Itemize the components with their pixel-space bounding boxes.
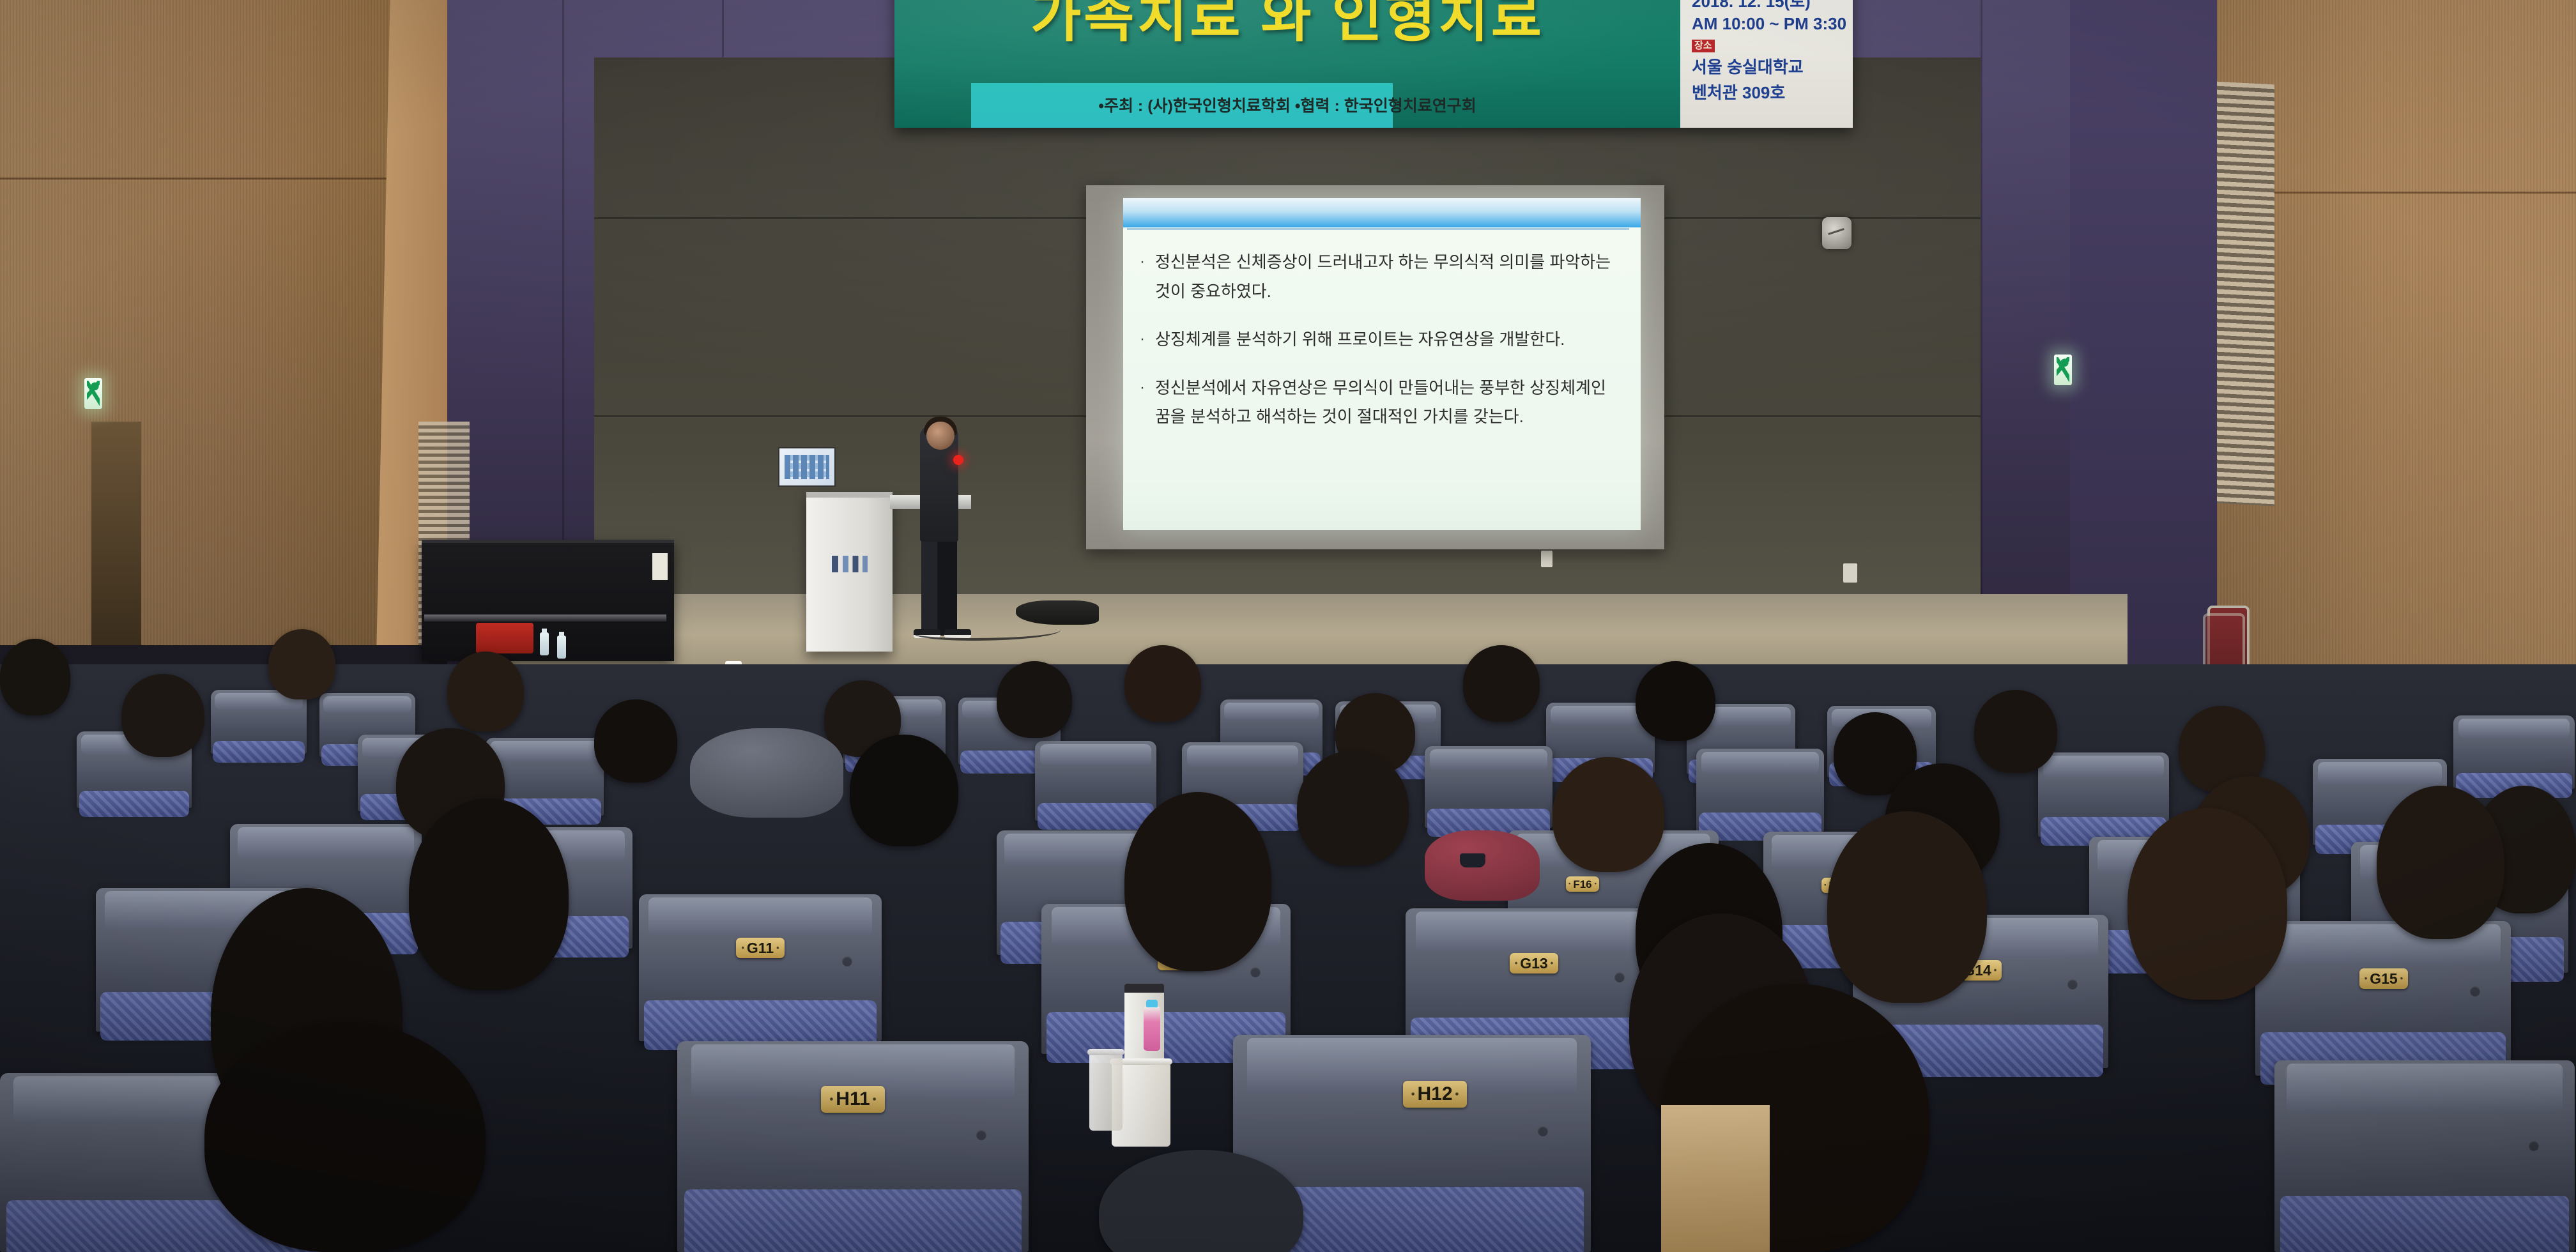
stage-poster: [778, 447, 836, 487]
seat[interactable]: [1035, 741, 1156, 821]
attendee-head: [997, 661, 1072, 738]
bullet-marker-icon: ·: [1140, 325, 1145, 355]
banner-main-panel: 2018 제8회 한국인형치료 학회 학술대회 가족치료 와 인형치료 •주최 …: [894, 0, 1680, 128]
slide-body: · 정신분석은 신체증상이 드러내고자 하는 무의식적 의미를 파악하는 것이 …: [1123, 198, 1641, 432]
purple-wall-right-panel: [2070, 0, 2217, 677]
seat[interactable]: [1696, 749, 1824, 832]
banner-place-line2: 벤처관 309호: [1692, 80, 1848, 103]
door-recess-left: [91, 422, 141, 645]
seat[interactable]: [1425, 746, 1552, 828]
seat[interactable]: [211, 690, 307, 754]
slide-bullet-text: 정신분석에서 자유연상은 무의식이 만들어내는 풍부한 상징체계인 꿈을 분석하…: [1155, 374, 1619, 432]
banner-place-tag: 장소: [1692, 40, 1715, 52]
banner-title: 가족치료 와 인형치료: [1031, 0, 1544, 49]
slide-bullet: · 정신분석은 신체증상이 드러내고자 하는 무의식적 의미를 파악하는 것이 …: [1140, 248, 1619, 306]
attendee-head: [1636, 661, 1715, 741]
seat[interactable]: [639, 894, 882, 1041]
attendee-head: [2377, 786, 2504, 939]
exit-sign-left-icon: [84, 378, 102, 409]
water-bottle: [557, 636, 566, 659]
coffee-cup: [1089, 1054, 1123, 1131]
slide-bullet: · 정신분석에서 자유연상은 무의식이 만들어내는 풍부한 상징체계인 꿈을 분…: [1140, 374, 1619, 432]
seat[interactable]: [2255, 921, 2511, 1076]
maroon-coat: [1425, 830, 1540, 901]
wall-outlet-secondary-icon: [1541, 551, 1552, 567]
attendee-head: [409, 798, 569, 990]
attendee-head: [1827, 811, 1987, 1003]
water-bottle: [540, 632, 549, 655]
banner-organizers: •주최 : (사)한국인형치료학회 •협력 : 한국인형치료연구회: [894, 93, 1680, 116]
attendee-head: [204, 1022, 486, 1252]
attendee-head: [1297, 751, 1409, 866]
seat[interactable]: [677, 1041, 1029, 1252]
microphone-indicator-icon: [953, 455, 963, 465]
attendee-head: [594, 699, 677, 782]
attendee-head: [1463, 645, 1540, 722]
banner-info-panel: 일시 2018. 12. 15(토) AM 10:00 ~ PM 3:30 장소…: [1680, 0, 1853, 128]
attendee-head: [1124, 792, 1271, 971]
seat[interactable]: [2274, 1060, 2575, 1252]
paper-shopping-bag: [1661, 1105, 1770, 1252]
red-bag: [476, 623, 533, 653]
seat-plate-g15: G15: [2359, 968, 2408, 989]
banner-time: AM 10:00 ~ PM 3:30: [1692, 14, 1848, 34]
bullet-marker-icon: ·: [1140, 374, 1145, 432]
banner-date: 2018. 12. 15(토): [1692, 0, 1848, 12]
seat[interactable]: [2453, 715, 2575, 789]
slide-bullet-text: 상징체계를 분석하기 위해 프로이트는 자유연상을 개발한다.: [1155, 325, 1565, 355]
piano-sheet-note: [652, 553, 668, 580]
gray-coat: [690, 728, 843, 818]
lectern-logo: [832, 556, 868, 572]
presenter-legs: [921, 537, 957, 636]
projection-screen: · 정신분석은 신체증상이 드러내고자 하는 무의식적 의미를 파악하는 것이 …: [1086, 185, 1664, 549]
pink-water-bottle: [1144, 1006, 1160, 1051]
presenter-head: [926, 422, 954, 450]
wall-clock-icon: [1822, 217, 1851, 249]
attendee-head: [1974, 690, 2057, 773]
slide-bullet: · 상징체계를 분석하기 위해 프로이트는 자유연상을 개발한다.: [1140, 325, 1619, 355]
seat[interactable]: [2038, 752, 2169, 837]
attendee-head: [121, 674, 204, 757]
seat-plate-f16: F16: [1566, 876, 1599, 892]
equipment-bag: [1016, 600, 1099, 625]
seat-plate-h12: H12: [1403, 1081, 1467, 1108]
auditorium-photo: 2018 제8회 한국인형치료 학회 학술대회 가족치료 와 인형치료 •주최 …: [0, 0, 2576, 1252]
attendee-head: [447, 652, 524, 731]
bullet-marker-icon: ·: [1140, 248, 1145, 306]
attendee-head: [0, 639, 70, 715]
slide-bullet-text: 정신분석은 신체증상이 드러내고자 하는 무의식적 의미를 파악하는 것이 중요…: [1155, 248, 1619, 306]
banner-place-line1: 서울 숭실대학교: [1692, 54, 1848, 78]
air-vent-grille-right-icon: [2217, 82, 2274, 507]
attendee-head: [1124, 645, 1201, 722]
seat-plate-h11: H11: [821, 1086, 885, 1113]
event-banner: 2018 제8회 한국인형치료 학회 학술대회 가족치료 와 인형치료 •주최 …: [894, 0, 1853, 128]
slide-divider: [1127, 228, 1629, 230]
seat-plate-g11: G11: [736, 938, 785, 958]
attendee-head: [2127, 808, 2287, 1000]
attendee-head: [268, 629, 335, 699]
exit-sign-right-icon: [2054, 355, 2072, 385]
slide-accent-band: [1123, 198, 1641, 227]
presentation-slide: · 정신분석은 신체증상이 드러내고자 하는 무의식적 의미를 파악하는 것이 …: [1123, 198, 1641, 530]
seat-plate-g13: G13: [1510, 953, 1558, 973]
attendee-head: [1552, 757, 1664, 872]
attendee-head: [850, 735, 958, 846]
wall-outlet-icon: [1843, 563, 1857, 583]
